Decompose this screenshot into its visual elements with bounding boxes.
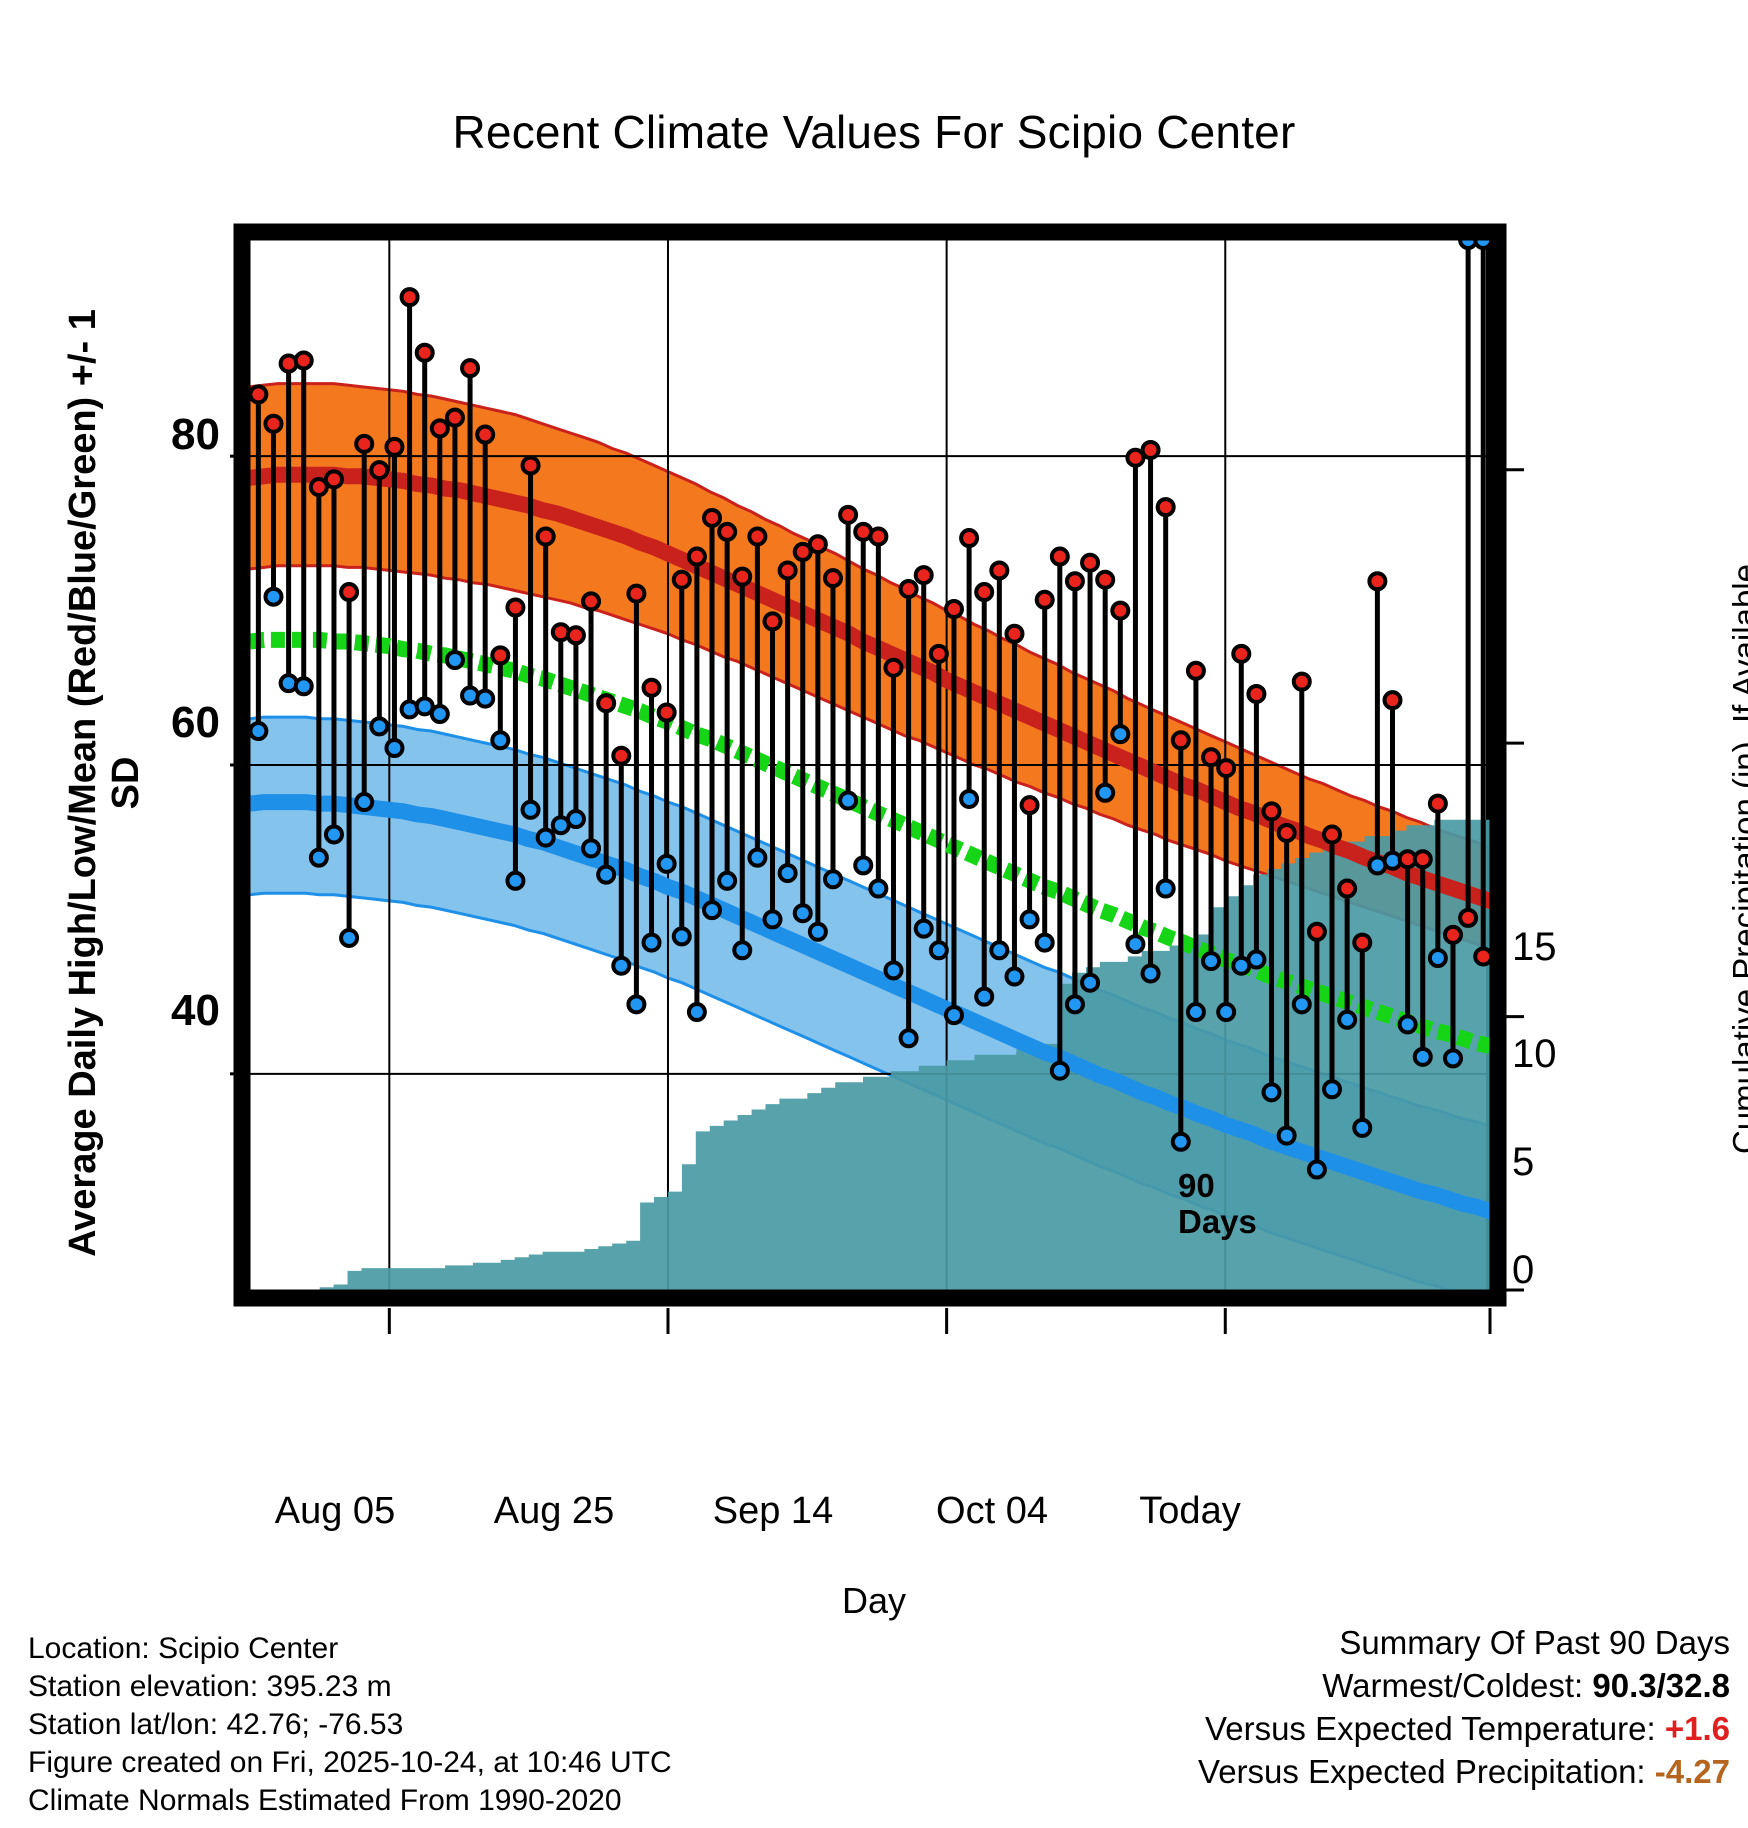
plot-area	[230, 220, 1550, 1355]
ninety-days-annotation: 90 Days	[1178, 1168, 1257, 1239]
summary-warmest-coldest-row: Warmest/Coldest: 90.3/32.8	[1198, 1665, 1730, 1708]
metadata-latlon: Station lat/lon: 42.76; -76.53	[28, 1706, 672, 1744]
y-axis-right-label: Cumulative Precipitation (in), If Availa…	[1726, 359, 1748, 1359]
climate-chart-page: Recent Climate Values For Scipio Center …	[0, 0, 1748, 1828]
y-tick-left-80: 80	[80, 410, 220, 460]
summary-temp-row: Versus Expected Temperature: +1.6	[1198, 1708, 1730, 1751]
summary-precip-label: Versus Expected Precipitation:	[1198, 1753, 1646, 1790]
metadata-normals: Climate Normals Estimated From 1990-2020	[28, 1782, 672, 1820]
summary-warmest-coldest-value: 90.3/32.8	[1592, 1667, 1730, 1704]
metadata-location: Location: Scipio Center	[28, 1630, 672, 1668]
metadata-block: Location: Scipio Center Station elevatio…	[28, 1630, 672, 1820]
summary-temp-value: +1.6	[1665, 1710, 1730, 1747]
x-tick-today: Today	[1060, 1490, 1320, 1533]
summary-block: Summary Of Past 90 Days Warmest/Coldest:…	[1198, 1622, 1730, 1794]
summary-precip-value: -4.27	[1655, 1753, 1730, 1790]
summary-precip-row: Versus Expected Precipitation: -4.27	[1198, 1751, 1730, 1794]
y-tick-left-60: 60	[80, 698, 220, 748]
metadata-created: Figure created on Fri, 2025-10-24, at 10…	[28, 1744, 672, 1782]
metadata-elevation: Station elevation: 395.23 m	[28, 1668, 672, 1706]
x-axis-label: Day	[0, 1580, 1748, 1622]
climate-plot-svg	[230, 220, 1550, 1350]
ninety-days-line1: 90	[1178, 1168, 1257, 1204]
ninety-days-line2: Days	[1178, 1204, 1257, 1240]
summary-temp-label: Versus Expected Temperature:	[1205, 1710, 1656, 1747]
summary-heading: Summary Of Past 90 Days	[1198, 1622, 1730, 1665]
page-title: Recent Climate Values For Scipio Center	[0, 105, 1748, 159]
y-tick-left-40: 40	[80, 986, 220, 1036]
summary-warmest-coldest-label: Warmest/Coldest:	[1322, 1667, 1583, 1704]
